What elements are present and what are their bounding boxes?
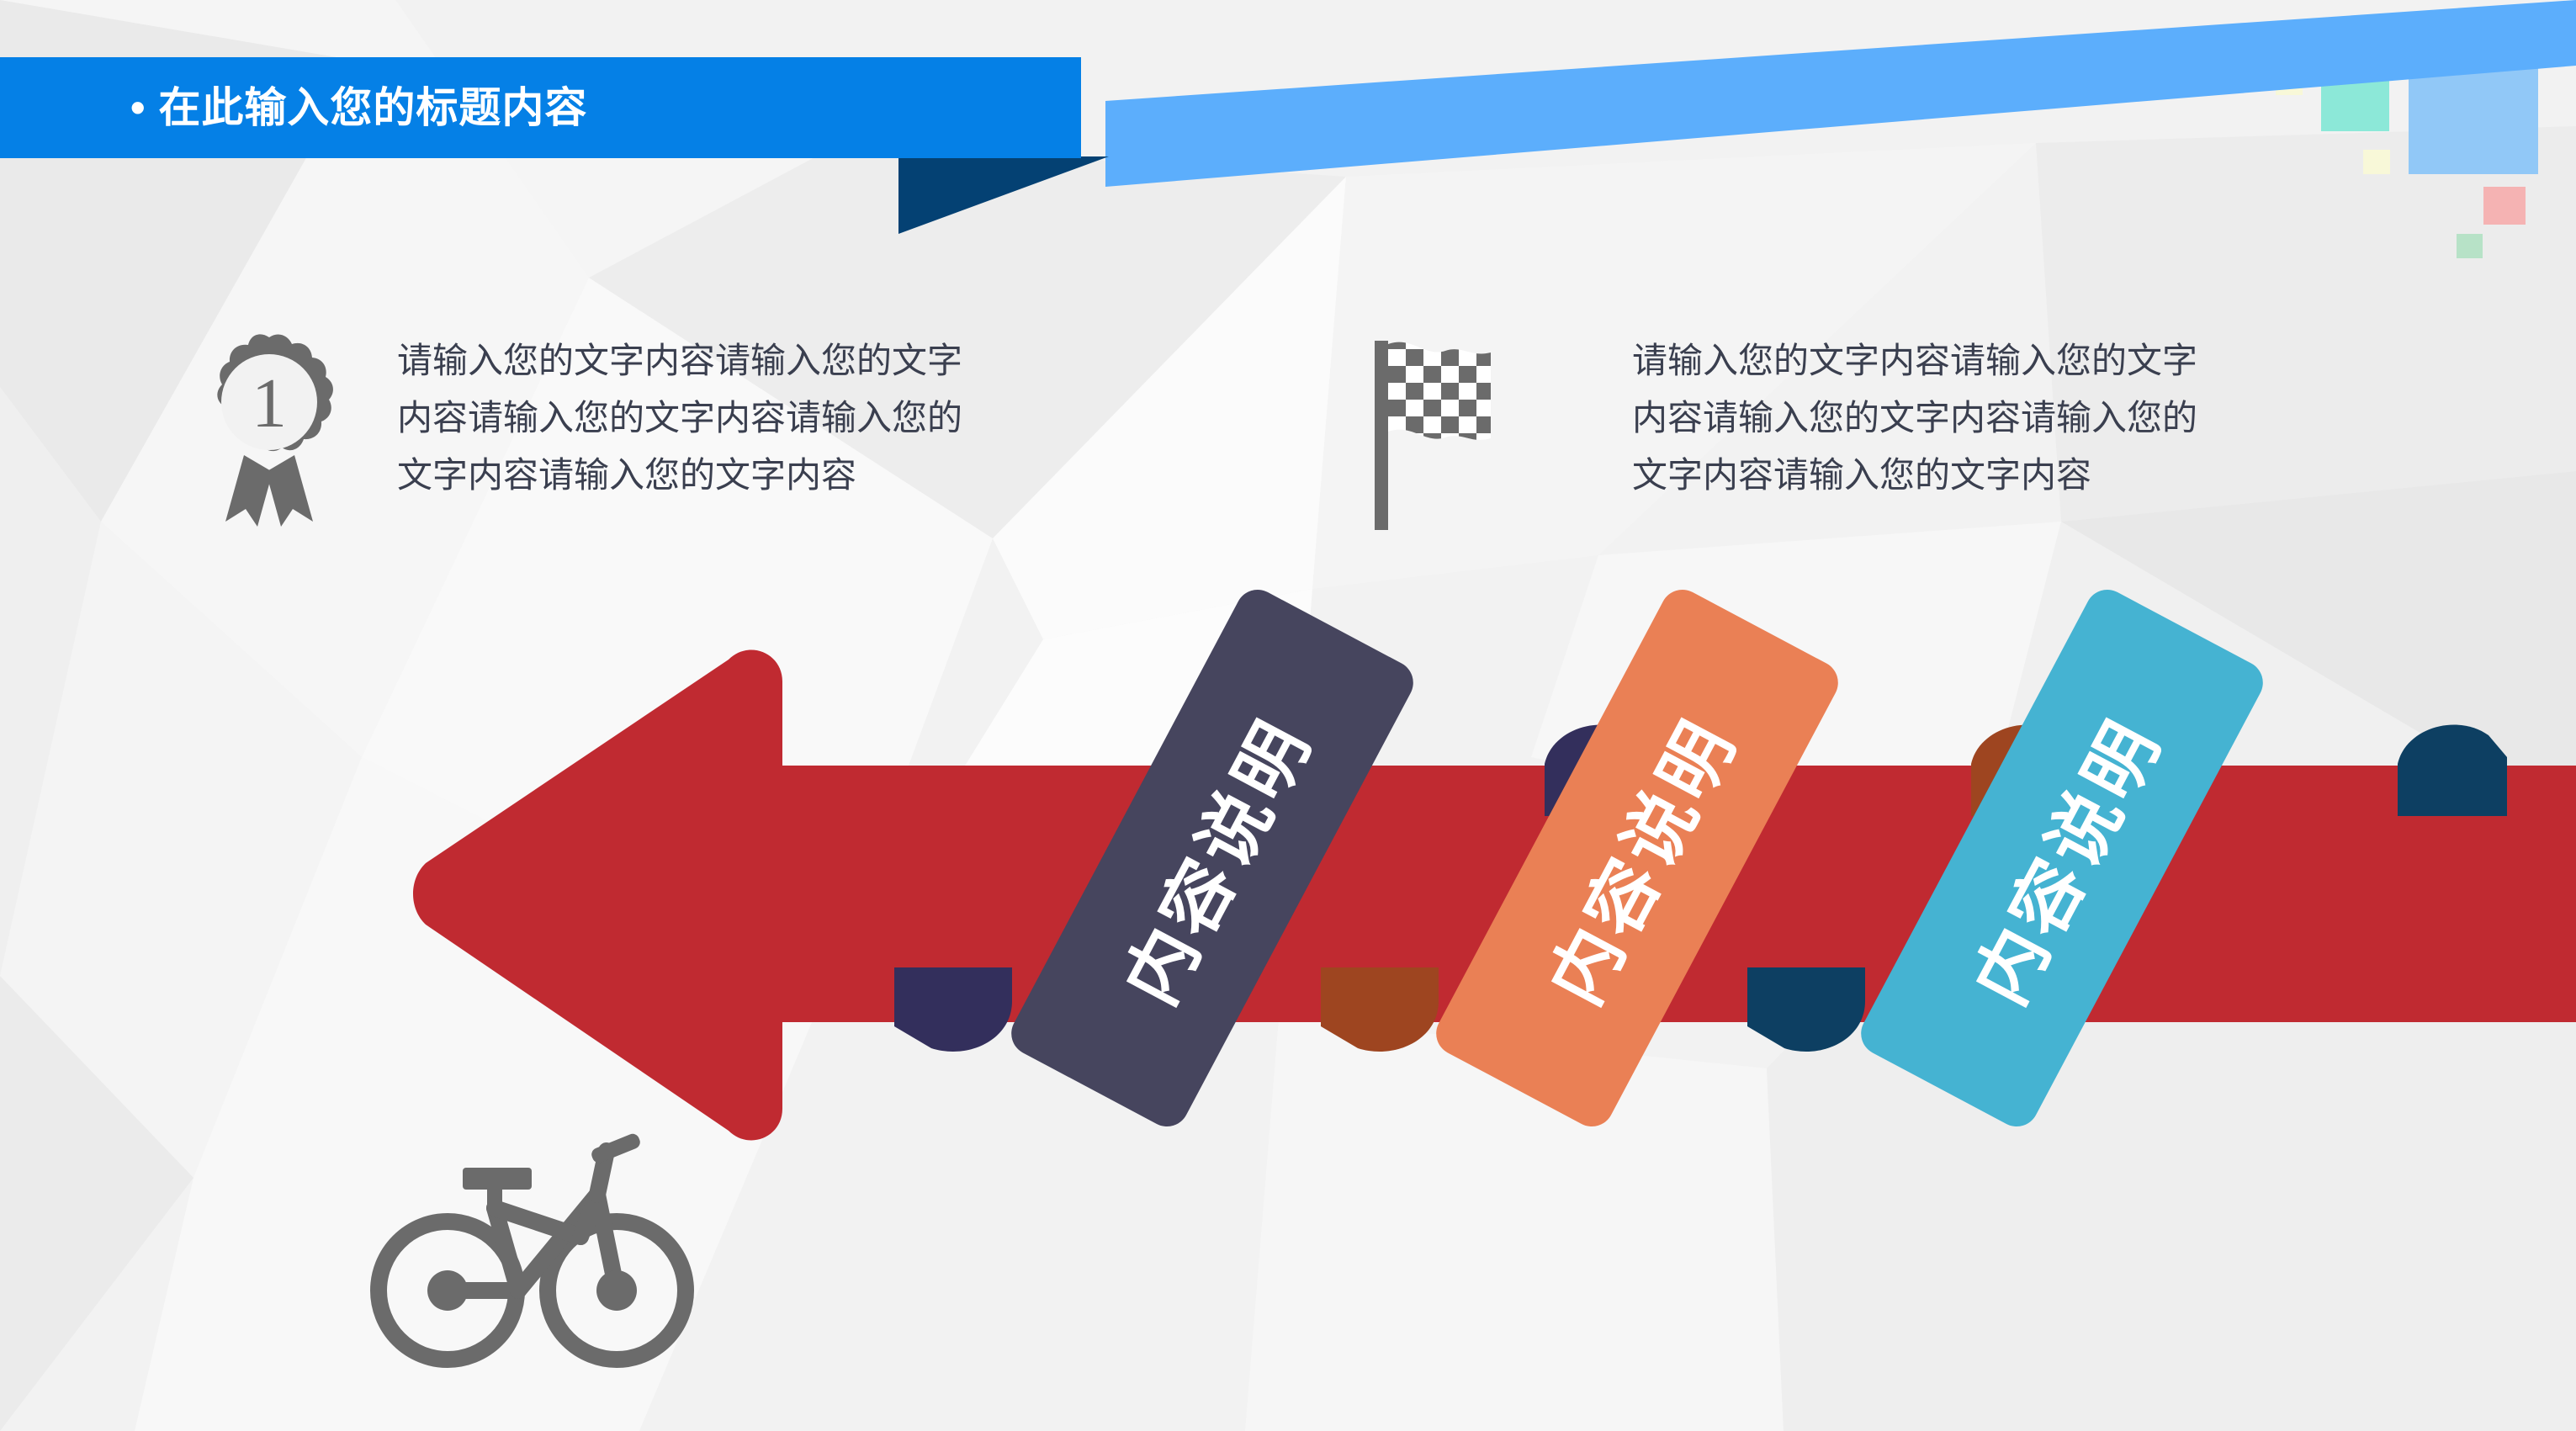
header-title-bar: • 在此输入您的标题内容 <box>0 57 1081 158</box>
content-block-1: 1 请输入您的文字内容请输入您的文字 内容请输入您的文字内容请输入您的 文字内容… <box>193 332 1195 534</box>
content-block-2-text: 请输入您的文字内容请输入您的文字 内容请输入您的文字内容请输入您的 文字内容请输… <box>1632 332 2197 504</box>
slide-canvas: • 在此输入您的标题内容 1 请输入您的文字内容请输入您的文字 内容请输入您的文… <box>0 0 2576 1431</box>
ribbon-1-shadow-tab <box>894 967 1012 1060</box>
checkered-flag-icon <box>1363 332 1523 534</box>
content-block-2: 请输入您的文字内容请输入您的文字 内容请输入您的文字内容请输入您的 文字内容请输… <box>1363 332 2406 534</box>
header-fold-triangle <box>898 156 1109 234</box>
svg-text:1: 1 <box>252 364 287 443</box>
medal-ribbon-icon: 1 <box>193 332 345 534</box>
ribbon-3-shadow-tab-top <box>2398 723 2507 816</box>
light-green-square <box>2457 234 2483 258</box>
ribbon-3-shadow-tab <box>1747 967 1865 1060</box>
page-title: • 在此输入您的标题内容 <box>130 87 587 129</box>
content-block-1-text: 请输入您的文字内容请输入您的文字 内容请输入您的文字内容请输入您的 文字内容请输… <box>397 332 962 504</box>
header-light-ribbon <box>892 0 2576 193</box>
ribbon-2-shadow-tab <box>1321 967 1439 1060</box>
